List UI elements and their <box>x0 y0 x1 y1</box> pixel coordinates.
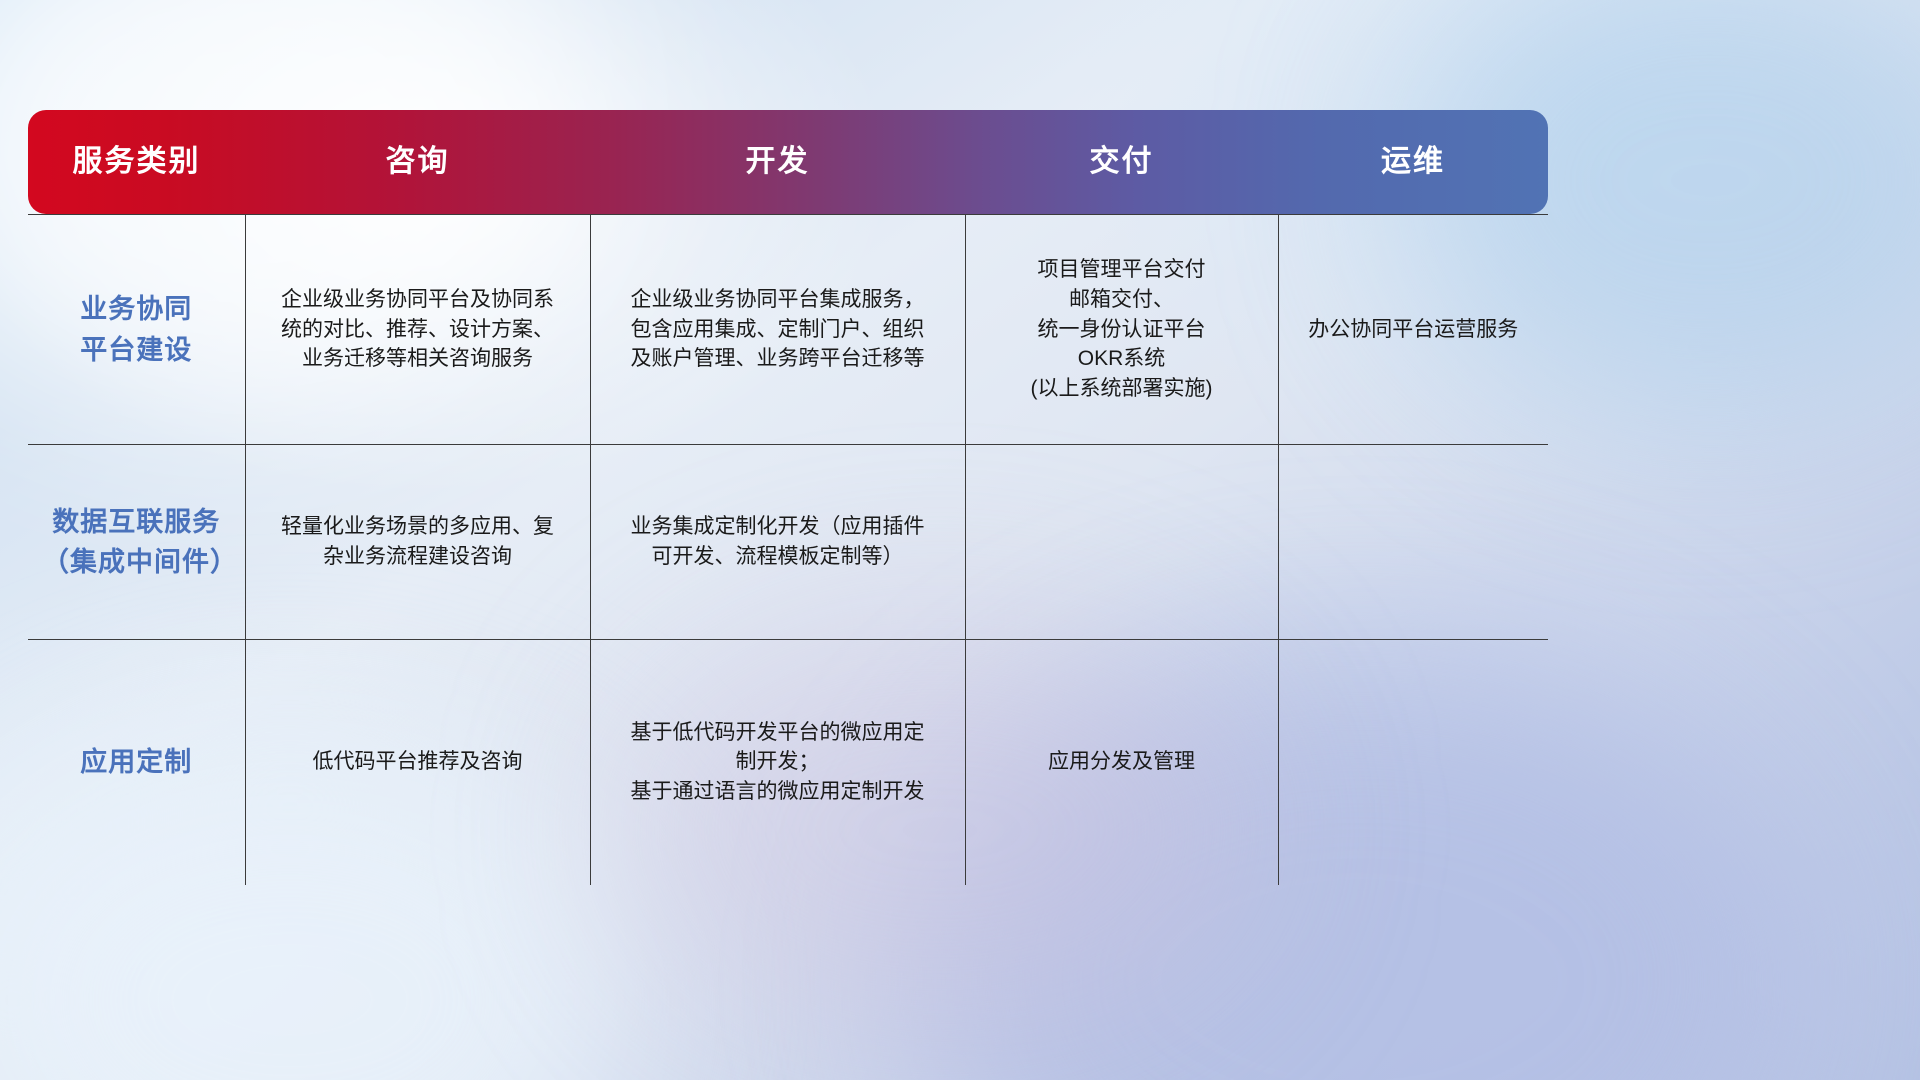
row-category-cell: 数据互联服务 （集成中间件） <box>28 445 245 640</box>
column-header-consulting: 咨询 <box>245 110 590 215</box>
cell-consulting: 轻量化业务场景的多应用、复 杂业务流程建设咨询 <box>245 445 590 640</box>
cell-development: 企业级业务协同平台集成服务， 包含应用集成、定制门户、组织 及账户管理、业务跨平… <box>590 215 965 445</box>
cell-development-text: 业务集成定制化开发（应用插件 可开发、流程模板定制等） <box>605 512 951 572</box>
table-row: 应用定制 低代码平台推荐及咨询 基于低代码开发平台的微应用定 制开发； 基于通过… <box>28 640 1548 885</box>
cell-delivery <box>965 445 1278 640</box>
table-row: 业务协同 平台建设 企业级业务协同平台及协同系 统的对比、推荐、设计方案、 业务… <box>28 215 1548 445</box>
cell-consulting-text: 轻量化业务场景的多应用、复 杂业务流程建设咨询 <box>260 512 576 572</box>
table-header: 服务类别 咨询 开发 交付 运维 <box>28 110 1548 215</box>
cell-consulting-text: 低代码平台推荐及咨询 <box>260 747 576 777</box>
table-row: 数据互联服务 （集成中间件） 轻量化业务场景的多应用、复 杂业务流程建设咨询 业… <box>28 445 1548 640</box>
cell-delivery-text: 项目管理平台交付 邮箱交付、 统一身份认证平台 OKR系统 (以上系统部署实施) <box>980 255 1264 404</box>
row-category-text: 应用定制 <box>42 742 231 783</box>
slide-canvas: 服务类别 咨询 开发 交付 运维 <box>0 0 1920 1080</box>
cell-development-text: 企业级业务协同平台集成服务， 包含应用集成、定制门户、组织 及账户管理、业务跨平… <box>605 285 951 374</box>
cell-development: 基于低代码开发平台的微应用定 制开发； 基于通过语言的微应用定制开发 <box>590 640 965 885</box>
column-header-delivery: 交付 <box>965 110 1278 215</box>
cell-delivery-text: 应用分发及管理 <box>980 747 1264 777</box>
cell-operations-text: 办公协同平台运营服务 <box>1293 315 1535 345</box>
cell-consulting: 低代码平台推荐及咨询 <box>245 640 590 885</box>
column-header-category-label: 服务类别 <box>28 110 245 214</box>
row-category-text: 数据互联服务 （集成中间件） <box>42 502 231 583</box>
service-table: 服务类别 咨询 开发 交付 运维 <box>28 110 1548 885</box>
column-header-consulting-label: 咨询 <box>245 110 590 214</box>
cell-delivery: 应用分发及管理 <box>965 640 1278 885</box>
column-header-operations-label: 运维 <box>1278 110 1548 214</box>
cell-operations: 办公协同平台运营服务 <box>1278 215 1548 445</box>
cell-consulting: 企业级业务协同平台及协同系 统的对比、推荐、设计方案、 业务迁移等相关咨询服务 <box>245 215 590 445</box>
row-category-text: 业务协同 平台建设 <box>42 289 231 370</box>
cell-development-text: 基于低代码开发平台的微应用定 制开发； 基于通过语言的微应用定制开发 <box>605 718 951 807</box>
column-header-development: 开发 <box>590 110 965 215</box>
column-header-category: 服务类别 <box>28 110 245 215</box>
cell-operations <box>1278 445 1548 640</box>
cell-consulting-text: 企业级业务协同平台及协同系 统的对比、推荐、设计方案、 业务迁移等相关咨询服务 <box>260 285 576 374</box>
cell-operations <box>1278 640 1548 885</box>
cell-development: 业务集成定制化开发（应用插件 可开发、流程模板定制等） <box>590 445 965 640</box>
column-header-development-label: 开发 <box>590 110 965 214</box>
row-category-cell: 应用定制 <box>28 640 245 885</box>
service-matrix: 服务类别 咨询 开发 交付 运维 <box>28 110 1548 780</box>
table-body: 业务协同 平台建设 企业级业务协同平台及协同系 统的对比、推荐、设计方案、 业务… <box>28 215 1548 885</box>
cell-delivery: 项目管理平台交付 邮箱交付、 统一身份认证平台 OKR系统 (以上系统部署实施) <box>965 215 1278 445</box>
column-header-delivery-label: 交付 <box>965 110 1278 214</box>
row-category-cell: 业务协同 平台建设 <box>28 215 245 445</box>
column-header-operations: 运维 <box>1278 110 1548 215</box>
header-row: 服务类别 咨询 开发 交付 运维 <box>28 110 1548 215</box>
